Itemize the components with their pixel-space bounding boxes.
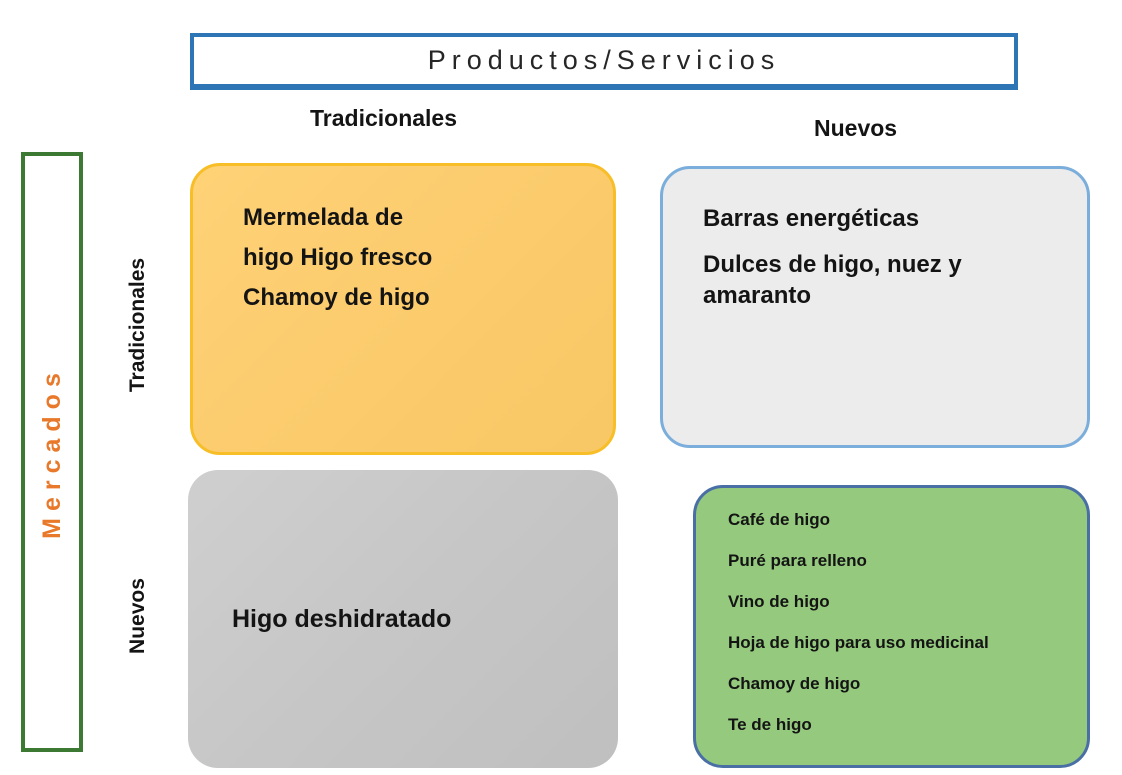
column-header-nuevos: Nuevos <box>814 115 897 142</box>
mercados-axis-header: Mercados <box>21 152 83 752</box>
quadrant-item: higo Higo fresco <box>243 238 613 278</box>
quadrant-tradicionales-nuevos[interactable]: Barras energéticas Dulces de higo, nuez … <box>660 166 1090 448</box>
mercados-axis-label: Mercados <box>38 366 67 539</box>
quadrant-item: Café de higo <box>728 504 1073 535</box>
products-services-axis-label: Productos/Servicios <box>428 45 781 76</box>
quadrant-item: Higo deshidratado <box>232 602 451 636</box>
quadrant-nuevos-tradicionales[interactable]: Higo deshidratado <box>188 470 618 768</box>
quadrant-item: Mermelada de <box>243 198 613 238</box>
quadrant-content: Café de higo Puré para relleno Vino de h… <box>696 504 1087 750</box>
quadrant-item: Hoja de higo para uso medicinal <box>728 627 1073 658</box>
quadrant-tradicionales-tradicionales[interactable]: Mermelada de higo Higo fresco Chamoy de … <box>190 163 616 455</box>
column-header-tradicionales: Tradicionales <box>310 105 457 132</box>
row-header-nuevos: Nuevos <box>126 506 150 726</box>
quadrant-content: Mermelada de higo Higo fresco Chamoy de … <box>193 198 613 318</box>
quadrant-content: Barras energéticas Dulces de higo, nuez … <box>663 203 1087 326</box>
row-header-tradicionales: Tradicionales <box>126 215 150 435</box>
quadrant-item: Chamoy de higo <box>243 278 613 318</box>
quadrant-item: Puré para relleno <box>728 545 1073 576</box>
quadrant-item: Vino de higo <box>728 586 1073 617</box>
quadrant-content: Higo deshidratado <box>188 602 451 636</box>
quadrant-item: Chamoy de higo <box>728 668 1073 699</box>
quadrant-item: Dulces de higo, nuez y amaranto <box>703 249 1063 311</box>
products-services-axis-header: Productos/Servicios <box>190 33 1018 90</box>
quadrant-item: Barras energéticas <box>703 203 1063 234</box>
quadrant-item: Te de higo <box>728 709 1073 740</box>
quadrant-nuevos-nuevos[interactable]: Café de higo Puré para relleno Vino de h… <box>693 485 1090 768</box>
